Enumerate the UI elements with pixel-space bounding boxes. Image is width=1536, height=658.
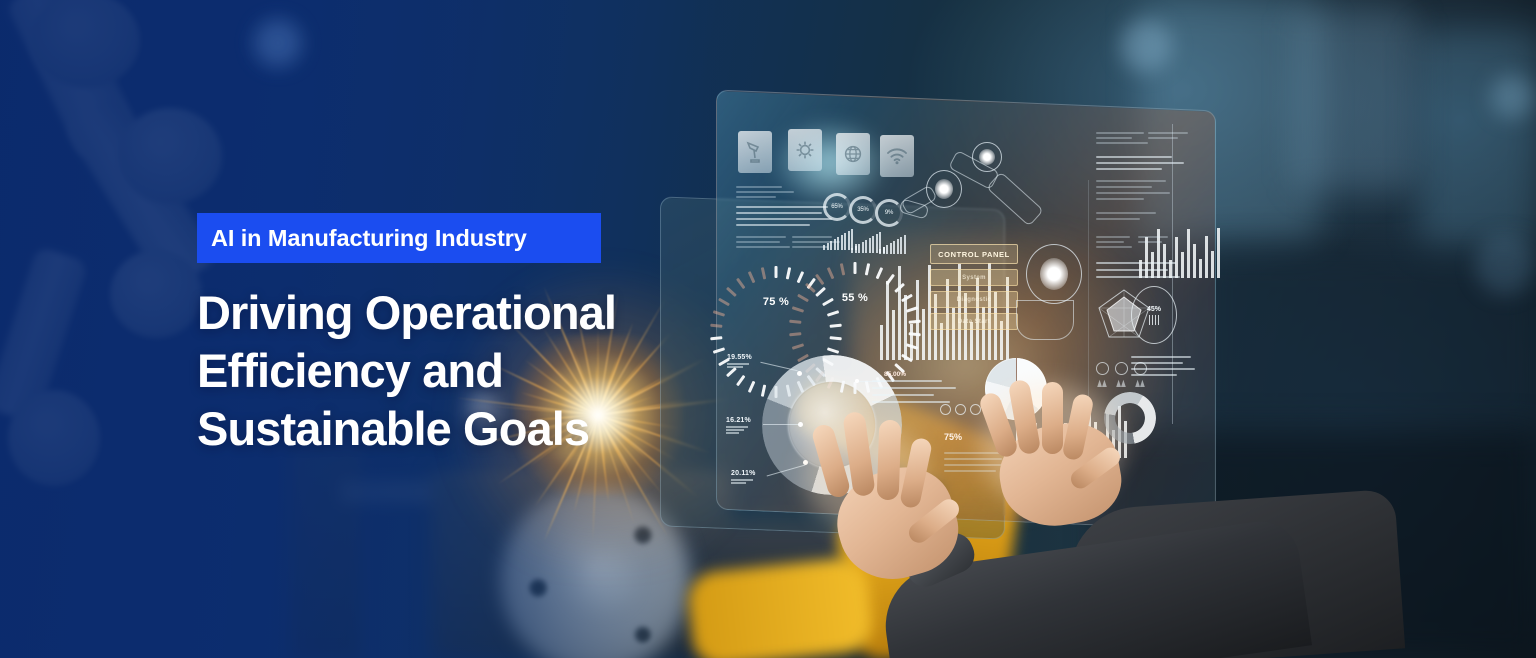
gauge-segment: [775, 266, 778, 278]
bar: [841, 235, 843, 250]
bar: [834, 239, 836, 250]
gear-icon[interactable]: [788, 129, 822, 171]
bar: [904, 295, 907, 360]
hud-text-line: [736, 224, 810, 226]
donut-callout: 20.11%: [731, 470, 756, 485]
bar: [823, 245, 825, 250]
hud-divider: [1088, 180, 1089, 420]
mini-ring-gauge: 9%: [875, 199, 903, 227]
badge-label: AI in Manufacturing Industry: [211, 225, 527, 252]
bar: [876, 234, 878, 253]
control-panel: CONTROL PANEL System Diagnostic Data Sta…: [930, 244, 1018, 330]
icon-item: [1096, 362, 1109, 387]
mini-bar-chart: [879, 234, 906, 254]
wire-joint-core: [1040, 258, 1068, 290]
hud-text-line: [1096, 241, 1124, 243]
globe-icon[interactable]: [836, 133, 870, 175]
hud-text-line: [1096, 246, 1132, 248]
hud-text-line: [1096, 137, 1132, 139]
hud-text-line: [736, 206, 828, 208]
hud-text-line: [736, 212, 822, 214]
control-panel-button-diagnostic[interactable]: Diagnostic: [930, 291, 1018, 308]
hud-text-line: [736, 186, 782, 188]
hud-text-line: [736, 246, 790, 248]
bar: [851, 248, 853, 253]
bar: [837, 237, 839, 250]
bar: [898, 266, 901, 360]
wire-base: [1016, 300, 1074, 340]
bar: [872, 236, 874, 253]
page-title-line: Driving Operational: [197, 284, 897, 342]
status-dots: [940, 404, 981, 415]
hud-text-line: [1096, 236, 1130, 238]
bar: [910, 324, 913, 360]
callout-value: 20.11%: [731, 470, 756, 477]
bar: [865, 240, 867, 253]
page-title: Driving OperationalEfficiency andSustain…: [197, 284, 897, 458]
bar: [922, 309, 925, 360]
bar: [844, 233, 846, 250]
control-panel-button-data-start[interactable]: Data Start: [930, 313, 1018, 330]
mini-ring-gauge: 35%: [849, 196, 877, 224]
hero-banner: 65% 35% 9% 75 % 55 % 19.55% 16.21%: [0, 0, 1536, 658]
bar: [830, 241, 832, 250]
page-title-line: Sustainable Goals: [197, 400, 897, 458]
wifi-icon[interactable]: [880, 135, 914, 177]
readout-75: 75%: [944, 432, 962, 442]
bar: [862, 242, 864, 253]
bar: [848, 231, 850, 250]
page-title-line: Efficiency and: [197, 342, 897, 400]
bar: [916, 280, 919, 360]
callout-sublines: [731, 479, 756, 484]
mini-ring-gauge: 65%: [823, 193, 851, 221]
robot-arm-icon[interactable]: [738, 131, 772, 173]
hud-text-line: [736, 218, 832, 220]
gauge-segment: [854, 262, 857, 274]
icon-item: [1115, 362, 1128, 387]
finger: [1042, 382, 1063, 454]
hud-text-line: [736, 241, 780, 243]
control-panel-title: CONTROL PANEL: [930, 244, 1018, 264]
bar: [855, 246, 857, 253]
bar: [858, 244, 860, 253]
hud-text-line: [736, 236, 786, 238]
bar: [869, 238, 871, 253]
bar: [827, 243, 829, 250]
control-panel-button-system[interactable]: System: [930, 269, 1018, 286]
hud-text-line: [736, 191, 794, 193]
category-badge: AI in Manufacturing Industry: [197, 213, 601, 263]
wire-joint-core: [935, 179, 953, 199]
hud-text-line: [736, 196, 776, 198]
